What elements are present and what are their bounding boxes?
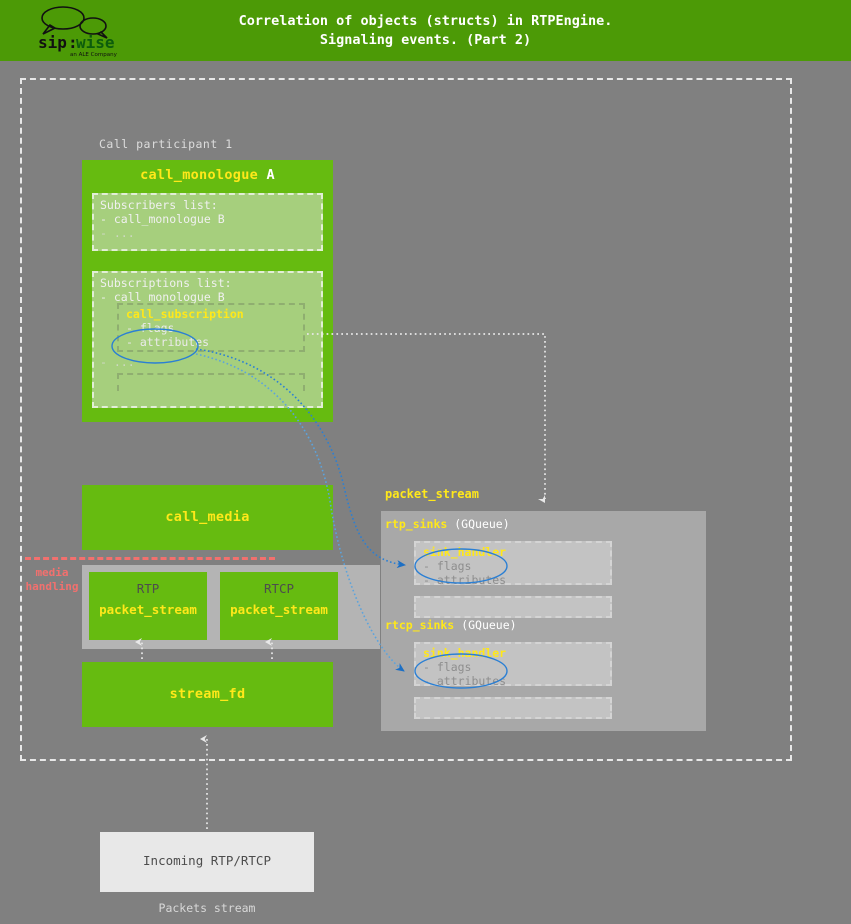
rtp-kind-label: RTP	[89, 581, 207, 596]
call-subscription-field-flags: - flags	[126, 321, 174, 335]
packets-stream-label: Packets stream	[100, 901, 314, 915]
rtp-sink-empty-slot	[414, 596, 612, 618]
packet-stream-title: packet_stream	[385, 487, 479, 501]
subscribers-list-panel: Subscribers list: - call_monologue B - .…	[92, 193, 323, 251]
rtcp-sink-empty-slot	[414, 697, 612, 719]
rtp-struct-label: packet_stream	[89, 602, 207, 617]
packet-stream-panel: rtp_sinks (GQueue) sink_handler - flags …	[381, 511, 706, 731]
title-line-1: Correlation of objects (structs) in RTPE…	[239, 12, 613, 31]
rtcp-struct-label: packet_stream	[220, 602, 338, 617]
rtp-sink-handler-box: sink_handler - flags - attributes	[414, 541, 612, 585]
rtcp-sinks-type: (GQueue)	[461, 618, 516, 632]
call-subscription-field-attributes: - attributes	[126, 335, 209, 349]
stream-fd-box: stream_fd	[82, 662, 333, 727]
call-media-box: call_media	[82, 485, 333, 550]
rtp-sink-handler-title: sink_handler	[423, 545, 506, 559]
rtcp-sink-field-attributes: - attributes	[423, 674, 506, 688]
rtp-sinks-title: rtp_sinks (GQueue)	[385, 517, 510, 531]
call-media-title: call_media	[82, 509, 333, 525]
rtcp-sinks-name: rtcp_sinks	[385, 618, 454, 632]
subscribers-item-1: - ...	[100, 226, 135, 241]
media-handling-line-1: media	[22, 566, 82, 580]
rtcp-sinks-title: rtcp_sinks (GQueue)	[385, 618, 517, 632]
rtcp-kind-label: RTCP	[220, 581, 338, 596]
rtp-sink-field-attributes: - attributes	[423, 573, 506, 587]
call-monologue-suffix: A	[258, 167, 275, 183]
incoming-rtp-rtcp-label: Incoming RTP/RTCP	[100, 853, 314, 868]
call-monologue-struct-name: call_monologue	[140, 167, 258, 183]
rtcp-packet-stream-box: RTCP packet_stream	[220, 572, 338, 640]
subscriptions-heading: Subscriptions list:	[100, 276, 232, 291]
call-subscription-title: call_subscription	[126, 307, 244, 321]
call-participant-label: Call participant 1	[99, 137, 233, 151]
call-monologue-title: call_monologue A	[82, 167, 333, 183]
subscriptions-more: - ...	[100, 355, 135, 370]
rtp-sinks-name: rtp_sinks	[385, 517, 447, 531]
rtp-packet-stream-box: RTP packet_stream	[89, 572, 207, 640]
subscribers-item-0: - call_monologue B	[100, 212, 225, 227]
stream-fd-title: stream_fd	[82, 686, 333, 702]
rtp-rtcp-panel: RTP packet_stream RTCP packet_stream	[82, 565, 380, 649]
title-line-2: Signaling events. (Part 2)	[320, 31, 531, 50]
app-header: sip : wise an ALE Company Correlation of…	[0, 0, 851, 61]
media-handling-label: media handling	[22, 566, 82, 594]
rtp-sink-field-flags: - flags	[423, 559, 471, 573]
media-handling-divider	[25, 557, 275, 560]
page-title: Correlation of objects (structs) in RTPE…	[0, 0, 851, 61]
subscription-placeholder-box	[117, 373, 305, 391]
subscribers-heading: Subscribers list:	[100, 198, 218, 213]
call-subscription-box: call_subscription - flags - attributes	[117, 303, 305, 352]
rtcp-sink-handler-box: sink_handler - flags - attributes	[414, 642, 612, 686]
diagram-canvas: Call participant 1 call_monologue A Subs…	[0, 61, 851, 924]
media-handling-line-2: handling	[22, 580, 82, 594]
rtcp-sink-handler-title: sink_handler	[423, 646, 506, 660]
call-monologue-box: call_monologue A Subscribers list: - cal…	[82, 160, 333, 422]
rtcp-sink-field-flags: - flags	[423, 660, 471, 674]
subscriptions-list-panel: Subscriptions list: - call monologue B c…	[92, 271, 323, 408]
rtp-sinks-type: (GQueue)	[454, 517, 509, 531]
incoming-rtp-rtcp-box: Incoming RTP/RTCP	[100, 832, 314, 892]
